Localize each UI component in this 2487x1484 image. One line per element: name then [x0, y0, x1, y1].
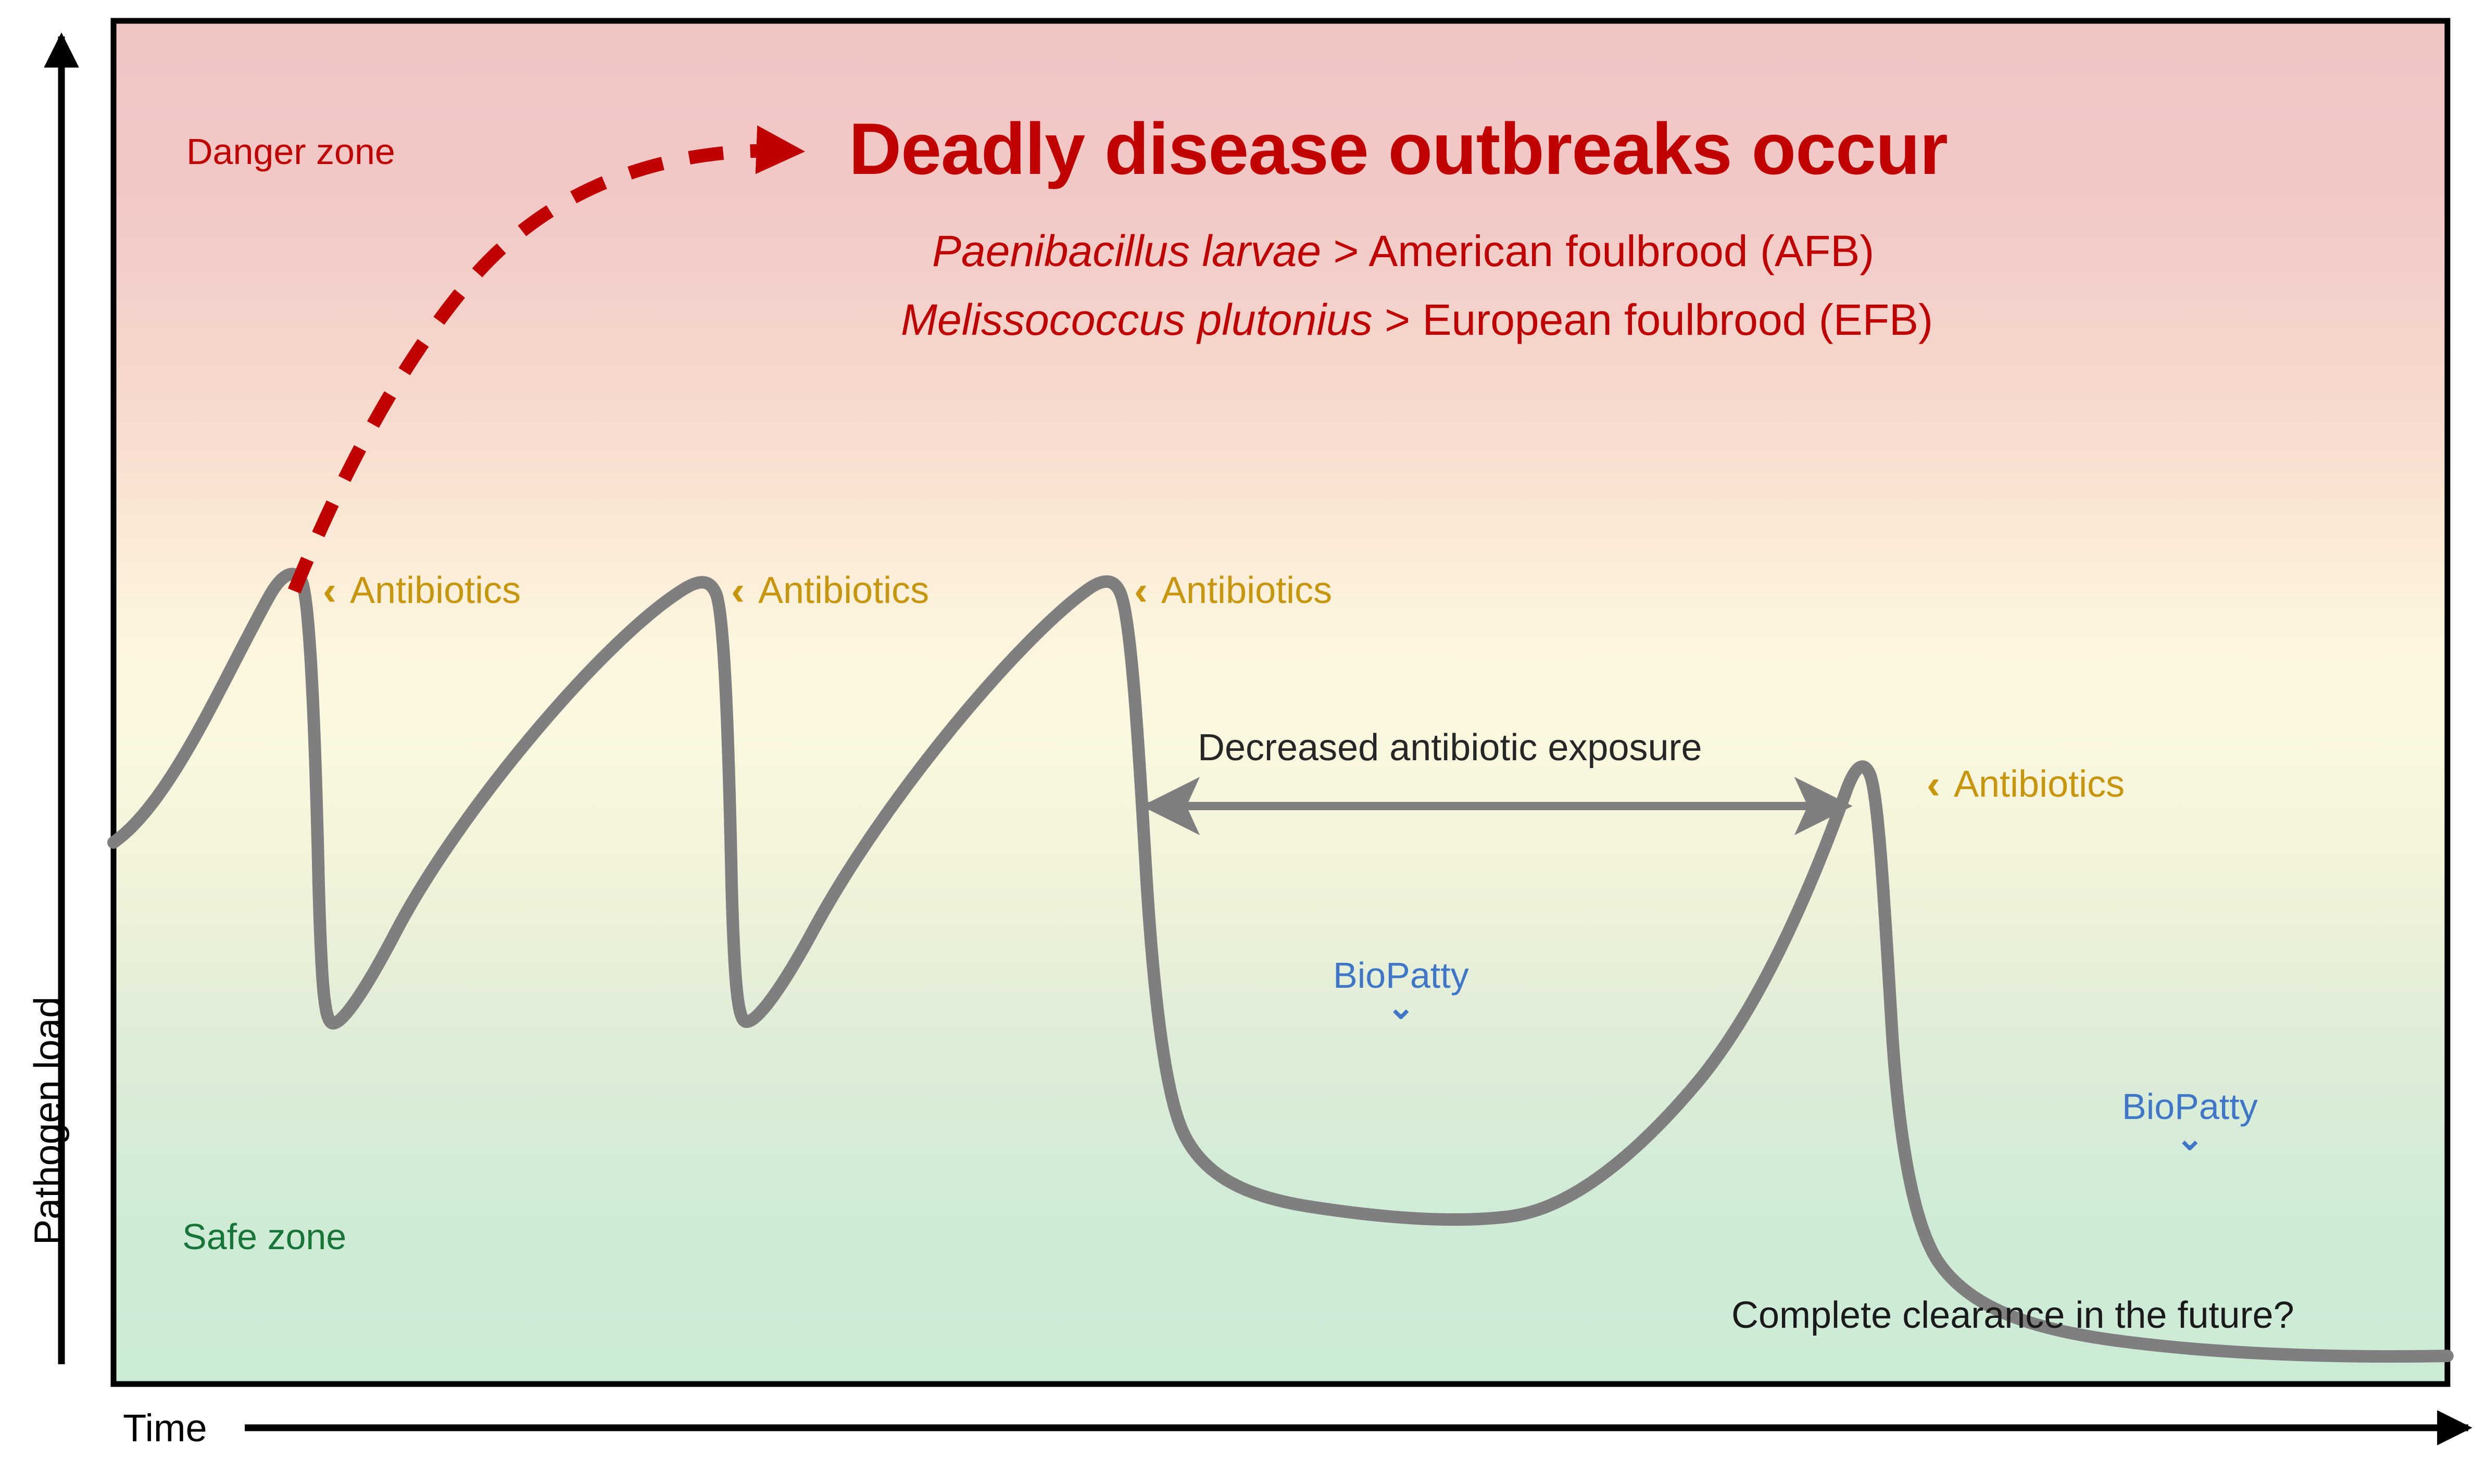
- pathogen-separator-afb: >: [1321, 227, 1368, 275]
- species-name-paenibacillus: Paenibacillus larvae: [932, 227, 1321, 275]
- disease-name-efb: European foulbrood (EFB): [1422, 295, 1933, 344]
- headline-title: Deadly disease outbreaks occur: [849, 112, 1948, 185]
- antibiotics-label: Antibiotics: [758, 572, 929, 609]
- antibiotics-annotation-2: ‹ Antibiotics: [731, 572, 929, 609]
- species-name-melissococcus: Melissococcus plutonius: [901, 295, 1373, 344]
- chevron-left-icon: ‹: [731, 572, 745, 609]
- antibiotics-label: Antibiotics: [1954, 765, 2125, 803]
- clearance-question-label: Complete clearance in the future?: [1731, 1297, 2294, 1334]
- biopatty-annotation-1: BioPatty ⌄: [1333, 957, 1469, 1024]
- biopatty-annotation-2: BioPatty ⌄: [2122, 1088, 2258, 1155]
- chevron-left-icon: ‹: [323, 572, 336, 609]
- antibiotics-annotation-1: ‹ Antibiotics: [323, 572, 521, 609]
- pathogen-line-efb: Melissococcus plutonius > European foulb…: [901, 298, 1933, 342]
- danger-zone-label: Danger zone: [186, 133, 395, 170]
- antibiotics-label: Antibiotics: [1161, 572, 1332, 609]
- safe-zone-label: Safe zone: [182, 1218, 346, 1255]
- chevron-left-icon: ‹: [1134, 572, 1148, 609]
- disease-name-afb: American foulbrood (AFB): [1368, 227, 1874, 275]
- figure-canvas: Pathogen load Time Danger zone Safe zone…: [0, 0, 2487, 1484]
- pathogen-line-afb: Paenibacillus larvae > American foulbroo…: [932, 229, 1874, 273]
- zone-gradient-background: [114, 21, 2447, 1384]
- x-axis-label: Time: [123, 1406, 207, 1450]
- antibiotics-annotation-4: ‹ Antibiotics: [1927, 765, 2125, 803]
- antibiotics-annotation-3: ‹ Antibiotics: [1134, 572, 1332, 609]
- antibiotics-label: Antibiotics: [350, 572, 521, 609]
- y-axis-label: Pathogen load: [26, 960, 70, 1282]
- decreased-exposure-label: Decreased antibiotic exposure: [1198, 729, 1702, 766]
- chevron-left-icon: ‹: [1927, 766, 1940, 802]
- pathogen-separator-efb: >: [1373, 295, 1423, 344]
